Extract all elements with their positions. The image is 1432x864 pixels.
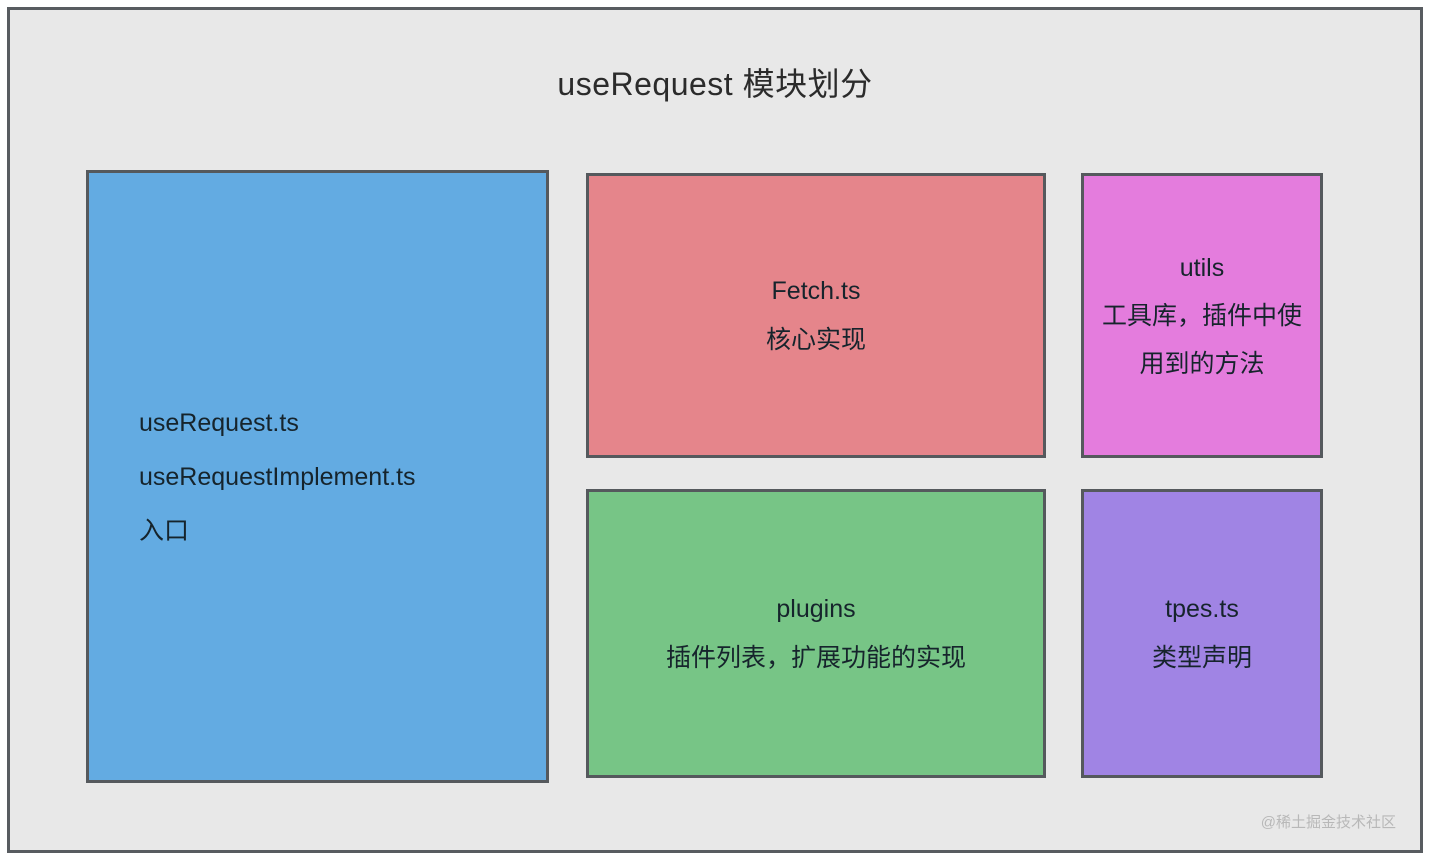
- node-fetch-line-2: 核心实现: [766, 316, 866, 365]
- node-fetch-line-1: Fetch.ts: [772, 267, 861, 316]
- node-entry-line-1: useRequest.ts: [139, 396, 299, 450]
- diagram-canvas: useRequest 模块划分 useRequest.ts useRequest…: [7, 7, 1423, 853]
- diagram-node-plugins[interactable]: plugins 插件列表，扩展功能的实现: [586, 489, 1046, 778]
- node-entry-line-2: useRequestImplement.ts: [139, 450, 416, 504]
- node-utils-line-2: 工具库，插件中使: [1102, 292, 1302, 340]
- node-plugins-line-1: plugins: [776, 585, 855, 634]
- node-types-line-2: 类型声明: [1152, 634, 1252, 683]
- node-plugins-line-2: 插件列表，扩展功能的实现: [666, 634, 966, 683]
- node-entry-line-3: 入口: [139, 504, 189, 558]
- node-types-line-1: tpes.ts: [1165, 585, 1239, 634]
- diagram-node-entry[interactable]: useRequest.ts useRequestImplement.ts 入口: [86, 170, 549, 783]
- diagram-node-fetch[interactable]: Fetch.ts 核心实现: [586, 173, 1046, 458]
- diagram-node-types[interactable]: tpes.ts 类型声明: [1081, 489, 1323, 778]
- node-utils-line-1: utils: [1180, 244, 1224, 292]
- page-title: useRequest 模块划分: [10, 65, 1420, 103]
- diagram-node-utils[interactable]: utils 工具库，插件中使 用到的方法: [1081, 173, 1323, 458]
- watermark-label: @稀土掘金技术社区: [1261, 811, 1396, 832]
- node-utils-line-3: 用到的方法: [1139, 340, 1264, 388]
